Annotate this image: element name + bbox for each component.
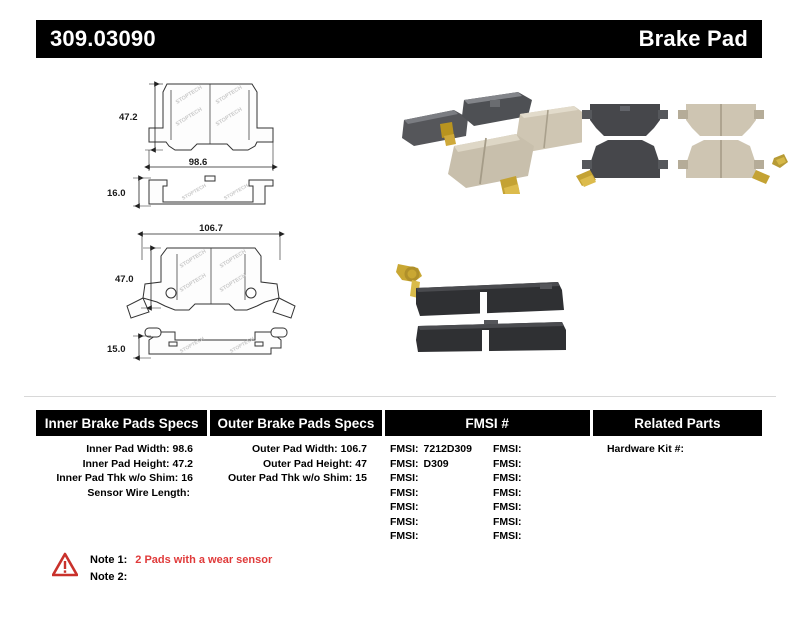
column-header-fmsi: FMSI # [385,410,590,436]
spec-row: Outer Pad Thk w/o Shim:15 [210,471,381,486]
table-body-row: Inner Pad Width:98.6 Inner Pad Height:47… [36,442,762,544]
inner-thickness-dimension: 16.0 [107,188,126,199]
related-parts-cell: Hardware Kit #: [593,442,762,544]
spec-row: Inner Pad Thk w/o Shim:16 [36,471,207,486]
fmsi-label: FMSI: [390,472,419,484]
fmsi-label: FMSI: [493,443,522,455]
svg-text:STOPTECH: STOPTECH [223,183,250,202]
fmsi-label: FMSI: [493,516,522,528]
spec-value: 16 [181,472,193,484]
fmsi-label: FMSI: [493,458,522,470]
inner-pad-technical-drawing: STOPTECH STOPTECH STOPTECH STOPTECH 47.2… [105,70,345,230]
fmsi-row: FMSI: [384,486,487,501]
fmsi-row: FMSI: [487,457,590,472]
sensor-clip-fragment [770,150,792,174]
fmsi-cell: FMSI:7212D309 FMSI:D309 FMSI: FMSI: FMSI… [384,442,590,544]
fmsi-label: FMSI: [390,443,419,455]
brake-pads-photo-flat-grid [576,84,776,194]
outer-thickness-dimension: 15.0 [107,344,126,355]
fmsi-row: FMSI: [487,515,590,530]
svg-text:STOPTECH: STOPTECH [181,183,208,202]
fmsi-row: FMSI:7212D309 [384,442,487,457]
fmsi-row: FMSI: [384,529,487,544]
column-header-outer-specs: Outer Brake Pads Specs [210,410,381,436]
fmsi-label: FMSI: [493,472,522,484]
fmsi-column-left: FMSI:7212D309 FMSI:D309 FMSI: FMSI: FMSI… [384,442,487,544]
fmsi-column-right: FMSI: FMSI: FMSI: FMSI: FMSI: FMSI: [487,442,590,544]
spec-value: 47.2 [173,458,193,470]
fmsi-row: FMSI: [487,529,590,544]
spec-row: Sensor Wire Length: [36,486,207,501]
inner-width-dimension: 98.6 [189,157,208,168]
notes-text-block: Note 1:2 Pads with a wear sensor Note 2: [90,552,272,586]
brake-pads-photo-edge-view [392,252,592,362]
warning-triangle-icon [52,552,78,578]
note-2-label: Note 2: [90,571,127,583]
outer-width-dimension: 106.7 [199,223,223,234]
fmsi-value: 7212D309 [424,443,472,455]
fmsi-label: FMSI: [493,530,522,542]
spec-row: Outer Pad Width:106.7 [210,442,381,457]
note-1-row: Note 1:2 Pads with a wear sensor [90,552,272,569]
column-header-inner-specs: Inner Brake Pads Specs [36,410,207,436]
spec-label: Outer Pad Width: [252,443,338,455]
spec-value: 15 [355,472,367,484]
fmsi-row: FMSI: [384,500,487,515]
spec-label: Outer Pad Thk w/o Shim: [228,472,352,484]
table-header-row: Inner Brake Pads Specs Outer Brake Pads … [36,410,762,436]
spec-label: Sensor Wire Length: [87,487,190,499]
spec-row: Inner Pad Height:47.2 [36,457,207,472]
fmsi-label: FMSI: [390,516,419,528]
fmsi-row: FMSI: [487,442,590,457]
spec-row: Inner Pad Width:98.6 [36,442,207,457]
fmsi-row: FMSI:D309 [384,457,487,472]
fmsi-row: FMSI: [384,515,487,530]
inner-height-dimension: 47.2 [119,112,138,123]
outer-height-dimension: 47.0 [115,274,134,285]
notes-area: Note 1:2 Pads with a wear sensor Note 2: [52,552,272,586]
note-1-value: 2 Pads with a wear sensor [135,554,272,566]
fmsi-row: FMSI: [487,486,590,501]
table-divider [24,396,776,397]
spec-label: Inner Pad Width: [86,443,169,455]
fmsi-row: FMSI: [487,471,590,486]
outer-specs-cell: Outer Pad Width:106.7 Outer Pad Height:4… [210,442,381,544]
outer-pad-technical-drawing: 106.7 STOPTECH STOPTECH STOPTECH STOPTEC… [105,210,345,380]
product-type-title: Brake Pad [639,28,748,50]
illustration-area: STOPTECH STOPTECH STOPTECH STOPTECH 47.2… [0,62,800,382]
spec-label: Inner Pad Thk w/o Shim: [56,472,178,484]
brake-pads-photo-angled [392,84,582,194]
fmsi-label: FMSI: [493,487,522,499]
note-1-label: Note 1: [90,554,127,566]
spec-value: 106.7 [341,443,367,455]
column-header-related-parts: Related Parts [593,410,762,436]
fmsi-label: FMSI: [493,501,522,513]
specs-table: Inner Brake Pads Specs Outer Brake Pads … [36,410,762,544]
fmsi-label: FMSI: [390,487,419,499]
part-number: 309.03090 [50,28,156,50]
fmsi-row: FMSI: [487,500,590,515]
spec-row: Outer Pad Height:47 [210,457,381,472]
spec-label: Inner Pad Height: [83,458,170,470]
fmsi-label: FMSI: [390,458,419,470]
spec-value: 47 [355,458,367,470]
fmsi-label: FMSI: [390,501,419,513]
header-bar: 309.03090 Brake Pad [36,20,762,58]
spec-label: Outer Pad Height: [263,458,352,470]
related-parts-row: Hardware Kit #: [607,442,762,457]
note-2-row: Note 2: [90,569,272,586]
fmsi-value: D309 [424,458,449,470]
fmsi-row: FMSI: [384,471,487,486]
related-parts-label: Hardware Kit #: [607,443,684,455]
fmsi-label: FMSI: [390,530,419,542]
spec-value: 98.6 [173,443,193,455]
inner-specs-cell: Inner Pad Width:98.6 Inner Pad Height:47… [36,442,207,544]
